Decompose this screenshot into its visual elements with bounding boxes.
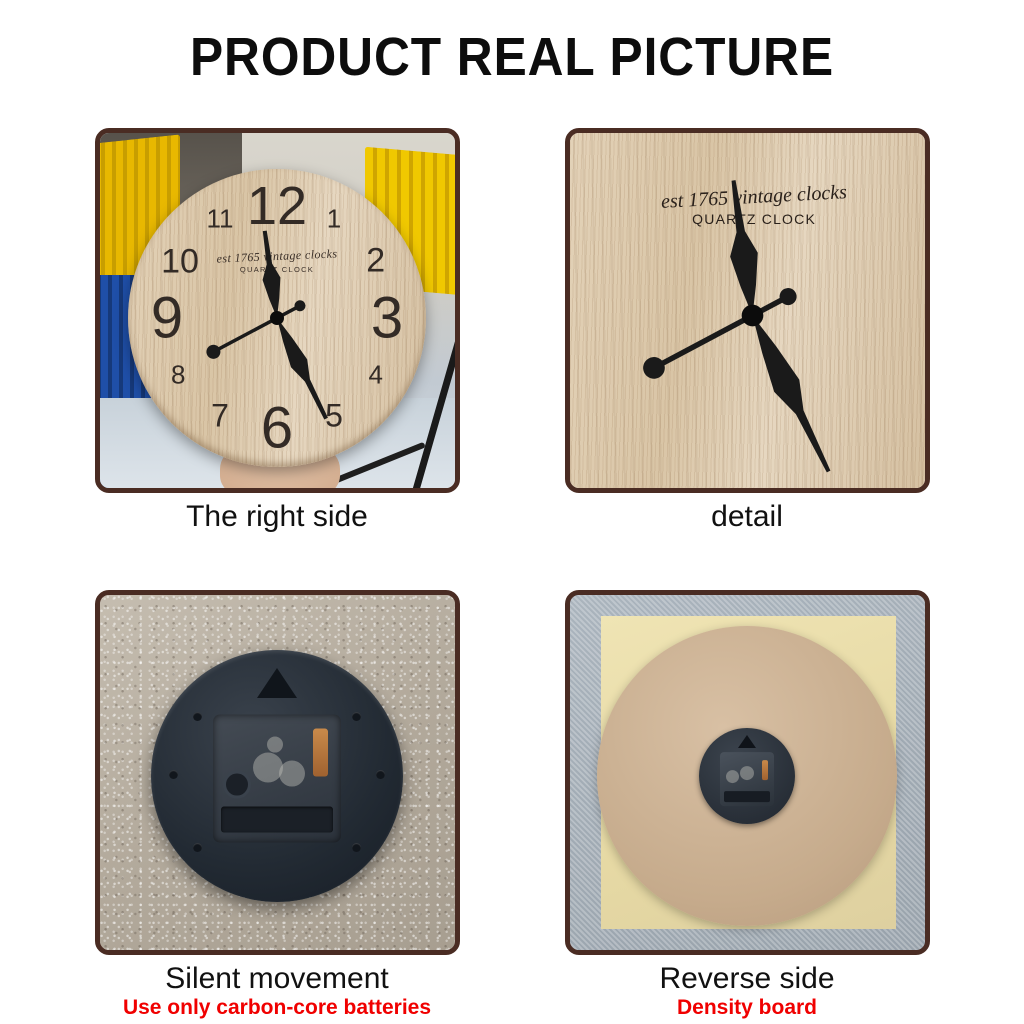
screw-icon bbox=[376, 770, 385, 779]
movement-mechanism-box bbox=[720, 752, 774, 806]
material-reverse: Density board bbox=[677, 996, 817, 1020]
gear-icon bbox=[253, 753, 283, 783]
battery-compartment bbox=[724, 791, 770, 802]
gear-icon bbox=[740, 766, 754, 780]
panel-cell-detail: est 1765 vintage clocks QUARTZ CLOCK det… bbox=[565, 128, 930, 533]
battery-compartment bbox=[221, 807, 333, 833]
panel-right-side[interactable]: 121234567891011 est 1765 vintage clocks … bbox=[95, 128, 460, 493]
movement-housing-small bbox=[699, 728, 795, 824]
panel-row-top: 121234567891011 est 1765 vintage clocks … bbox=[0, 128, 1024, 533]
clock-face: 121234567891011 est 1765 vintage clocks … bbox=[128, 169, 426, 467]
movement-housing bbox=[151, 650, 403, 902]
battery bbox=[313, 729, 328, 777]
warning-movement: Use only carbon-core batteries bbox=[123, 996, 431, 1020]
screw-icon bbox=[193, 712, 202, 721]
clock-hands bbox=[128, 169, 426, 467]
hanging-hole-triangle-icon bbox=[738, 735, 756, 748]
panel-cell-reverse: Reverse side Density board bbox=[565, 590, 930, 1020]
panel-grid: 121234567891011 est 1765 vintage clocks … bbox=[0, 128, 1024, 1020]
screw-icon bbox=[352, 712, 361, 721]
panel-row-bottom: Silent movement Use only carbon-core bat… bbox=[0, 590, 1024, 1020]
battery bbox=[762, 760, 768, 780]
panel-detail[interactable]: est 1765 vintage clocks QUARTZ CLOCK bbox=[565, 128, 930, 493]
gear-icon bbox=[223, 771, 251, 799]
gear-icon bbox=[267, 737, 283, 753]
panel-movement[interactable] bbox=[95, 590, 460, 955]
gear-icon bbox=[726, 770, 739, 783]
mdf-density-board-disc bbox=[597, 626, 897, 926]
movement-mechanism-box bbox=[213, 715, 341, 843]
caption-movement: Silent movement bbox=[165, 962, 388, 995]
panel-cell-right-side: 121234567891011 est 1765 vintage clocks … bbox=[95, 128, 460, 533]
hanging-hole-triangle-icon bbox=[257, 668, 297, 698]
screw-icon bbox=[193, 843, 202, 852]
screw-icon bbox=[169, 770, 178, 779]
panel-cell-movement: Silent movement Use only carbon-core bat… bbox=[95, 590, 460, 1020]
caption-detail: detail bbox=[711, 500, 783, 533]
panel-reverse[interactable] bbox=[565, 590, 930, 955]
gear-icon bbox=[279, 761, 305, 787]
caption-reverse: Reverse side bbox=[659, 962, 834, 995]
screw-icon bbox=[352, 843, 361, 852]
caption-right-side: The right side bbox=[186, 500, 368, 533]
clock-hands-closeup bbox=[570, 133, 930, 493]
page-title: PRODUCT REAL PICTURE bbox=[41, 0, 983, 88]
